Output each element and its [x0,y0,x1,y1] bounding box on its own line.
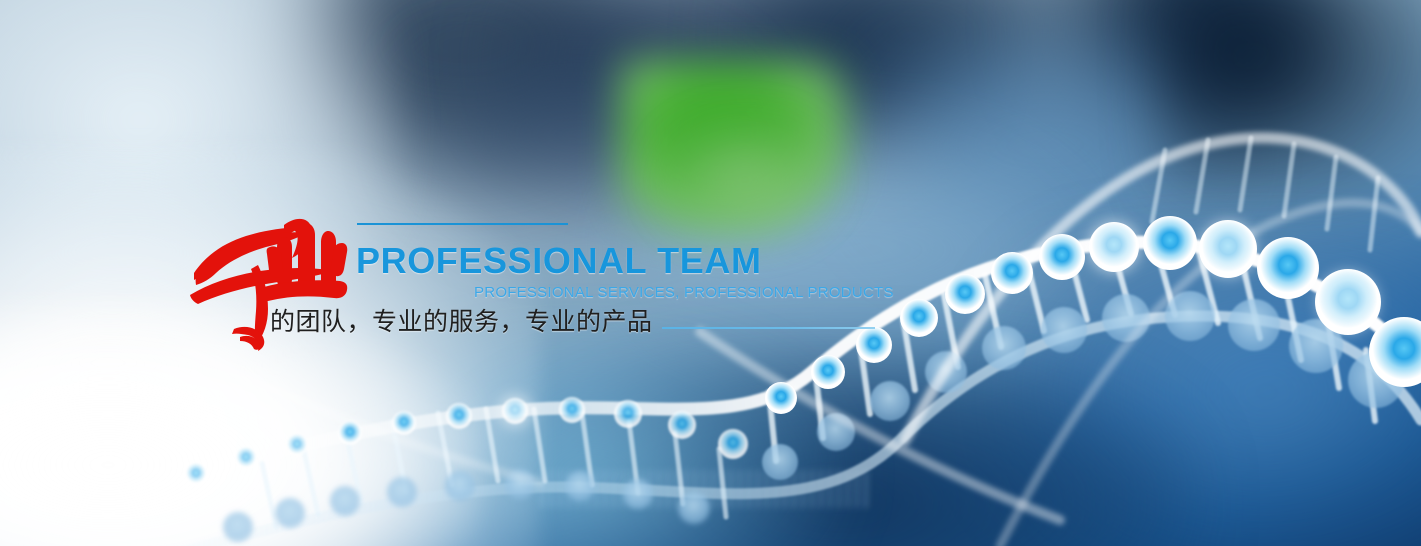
page-subtitle-en: PROFESSIONAL SERVICES, PROFESSIONAL PROD… [474,285,894,300]
title-rule-bottom [662,327,875,329]
banner-content: PROFESSIONAL TEAM PROFESSIONAL SERVICES,… [0,0,1421,546]
title-rule-top [357,223,568,225]
page-title: PROFESSIONAL TEAM [356,243,762,279]
page-subtitle-cn: 的团队，专业的服务，专业的产品 [270,306,653,339]
professional-team-banner: PROFESSIONAL TEAM PROFESSIONAL SERVICES,… [0,0,1421,546]
